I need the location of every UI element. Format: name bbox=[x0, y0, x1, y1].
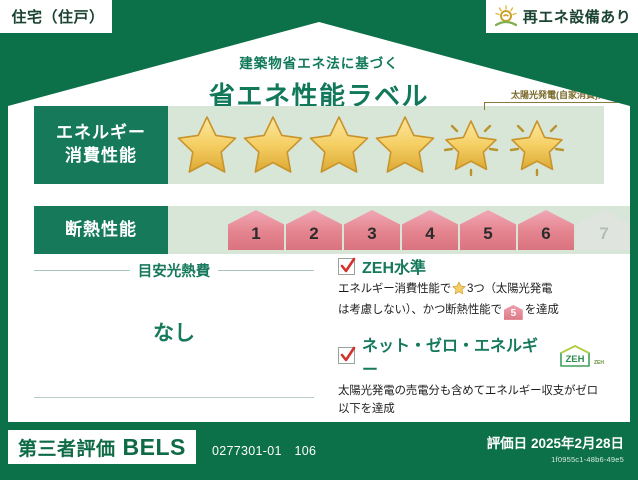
third-party-evaluation-label: 第三者評価 bbox=[18, 434, 116, 461]
desc-part-star: 3つ（太陽光発電 bbox=[467, 283, 552, 295]
desc-part-3: を達成 bbox=[525, 304, 559, 316]
insulation-level-number: 4 bbox=[425, 224, 434, 250]
evaluation-hash: 1f0955c1-48b6-49e5 bbox=[487, 455, 624, 464]
checkbox-checked-icon[interactable] bbox=[338, 347, 355, 364]
energy-performance-label: 住宅（住戸） 再エネ設備あり 建築物省エネ法に基づく 省エネ性能ラベル bbox=[0, 0, 638, 480]
claim-zeh-standard-head: ZEH水準 bbox=[338, 254, 604, 278]
claim-zeh-standard-title: ZEH水準 bbox=[362, 254, 426, 278]
energy-label-line1: エネルギー bbox=[56, 122, 146, 145]
star-4-filled bbox=[372, 112, 438, 178]
insulation-level-3: 3 bbox=[344, 210, 400, 250]
inline-star-icon bbox=[452, 286, 466, 298]
dwelling-type-label: 住宅（住戸） bbox=[11, 6, 104, 27]
insulation-level-7: 7 bbox=[576, 210, 632, 250]
insulation-level-number: 7 bbox=[599, 224, 608, 250]
utility-cost-divider bbox=[34, 397, 314, 398]
renewable-equipment-label: 再エネ設備あり bbox=[523, 6, 632, 27]
dwelling-type-tag: 住宅（住戸） bbox=[0, 0, 112, 33]
insulation-level-5: 5 bbox=[460, 210, 516, 250]
lower-section: 目安光熱費 なし ZEH水準 bbox=[34, 254, 604, 430]
svg-text:ZEH: ZEH bbox=[566, 354, 585, 365]
claim-zeh-standard-desc: エネルギー消費性能で3つ（太陽光発電 は考慮しない）、かつ断熱性能で5を達成 bbox=[338, 281, 604, 320]
inline-house-icon: 5 bbox=[504, 305, 523, 320]
claim-zeh-standard: ZEH水準 エネルギー消費性能で3つ（太陽光発電 は考慮しない）、かつ断熱性能で… bbox=[338, 254, 604, 320]
energy-stars-area: 太陽光発電(自家消費)分 bbox=[168, 106, 604, 184]
zeh-logo-badge: ZEH ZEH bbox=[558, 344, 604, 368]
checkbox-checked-icon[interactable] bbox=[338, 258, 355, 275]
inline-house-number: 5 bbox=[511, 308, 516, 319]
insulation-level-number: 5 bbox=[483, 224, 492, 250]
zeh-badge-subtext: ZEH bbox=[594, 360, 604, 368]
insulation-level-number: 2 bbox=[309, 224, 318, 250]
insulation-performance-label: 断熱性能 bbox=[34, 206, 168, 254]
estimated-utility-cost-block: 目安光熱費 なし bbox=[34, 254, 330, 430]
bels-logo-text: BELS bbox=[123, 434, 186, 461]
claim-net-zero-head: ネット・ゼロ・エネルギー ZEH ZEH bbox=[338, 332, 604, 380]
energy-performance-label: エネルギー 消費性能 bbox=[34, 106, 168, 184]
certification-claims: ZEH水準 エネルギー消費性能で3つ（太陽光発電 は考慮しない）、かつ断熱性能で… bbox=[330, 254, 604, 430]
utility-cost-heading-text: 目安光熱費 bbox=[138, 260, 211, 281]
claim-net-zero-title: ネット・ゼロ・エネルギー bbox=[362, 332, 547, 380]
insulation-level-4: 4 bbox=[402, 210, 458, 250]
desc-part-1: エネルギー消費性能で bbox=[338, 283, 451, 295]
utility-cost-value: なし bbox=[34, 317, 314, 347]
insulation-performance-row: 断熱性能 1 2 3 bbox=[34, 206, 604, 254]
bels-registration-number: 0277301-01 106 bbox=[212, 440, 316, 459]
heading-rule-right bbox=[218, 270, 314, 271]
label-subtitle: 建築物省エネ法に基づく bbox=[8, 52, 630, 72]
sun-solar-icon bbox=[493, 4, 519, 30]
insulation-level-2: 2 bbox=[286, 210, 342, 250]
heading-rule-left bbox=[34, 270, 130, 271]
claim-net-zero-desc: 太陽光発電の売電分も含めてエネルギー収支がゼロ以下を達成 bbox=[338, 383, 604, 419]
star-2-filled bbox=[240, 112, 306, 178]
insulation-level-1: 1 bbox=[228, 210, 284, 250]
evaluation-date: 評価日 2025年2月28日 bbox=[487, 432, 624, 452]
energy-performance-row: エネルギー 消費性能 bbox=[34, 106, 604, 184]
insulation-level-number: 6 bbox=[541, 224, 550, 250]
evaluation-date-block: 評価日 2025年2月28日 1f0955c1-48b6-49e5 bbox=[487, 432, 624, 464]
star-5-solar bbox=[438, 112, 504, 178]
star-1-filled bbox=[174, 112, 240, 178]
label-body-panel: 建築物省エネ法に基づく 省エネ性能ラベル エネルギー 消費性能 bbox=[8, 22, 630, 422]
insulation-level-6: 6 bbox=[518, 210, 574, 250]
star-6-solar bbox=[504, 112, 570, 178]
insulation-levels-area: 1 2 3 4 5 bbox=[168, 206, 632, 254]
insulation-level-number: 3 bbox=[367, 224, 376, 250]
label-title-block: 建築物省エネ法に基づく 省エネ性能ラベル bbox=[8, 52, 630, 113]
label-footer: 第三者評価 BELS 0277301-01 106 評価日 2025年2月28日… bbox=[0, 422, 638, 480]
insulation-level-number: 1 bbox=[251, 224, 260, 250]
insulation-label-text: 断熱性能 bbox=[65, 219, 137, 242]
claim-net-zero-energy: ネット・ゼロ・エネルギー ZEH ZEH 太陽光発電の売電分も含めてエネルギー収… bbox=[338, 332, 604, 419]
bels-plate: 第三者評価 BELS bbox=[8, 430, 196, 464]
desc-part-2: は考慮しない）、かつ断熱性能で bbox=[338, 304, 502, 316]
renewable-equipment-tag: 再エネ設備あり bbox=[486, 0, 638, 33]
energy-label-line2: 消費性能 bbox=[65, 145, 137, 168]
utility-cost-heading: 目安光熱費 bbox=[34, 260, 314, 281]
star-3-filled bbox=[306, 112, 372, 178]
performance-rows: エネルギー 消費性能 bbox=[34, 106, 604, 254]
